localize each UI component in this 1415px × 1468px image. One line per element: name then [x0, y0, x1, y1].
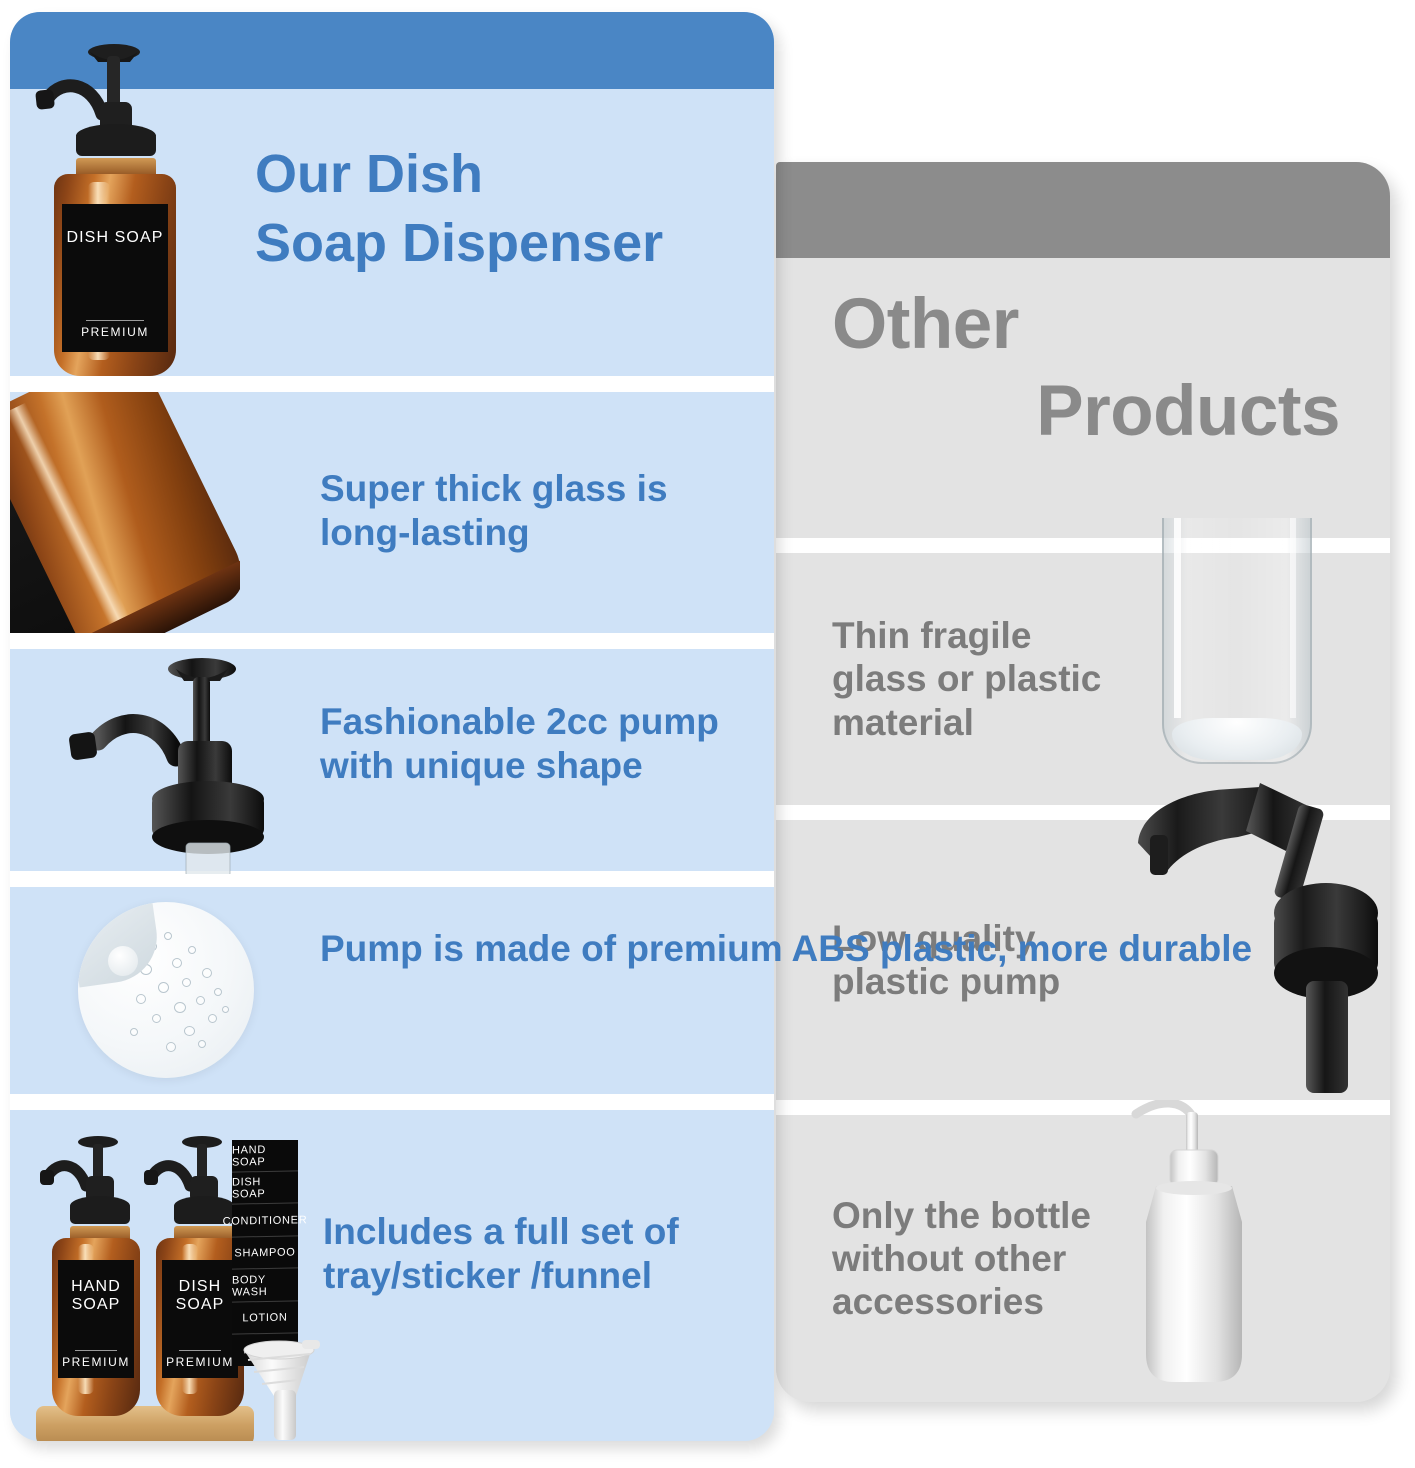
left-row-divider-2: [10, 633, 774, 649]
our-product-panel: HAND SOAP PREMIUM: [10, 12, 774, 1441]
our-product-title-line-2: Soap Dispenser: [255, 209, 775, 278]
bottle-label-bottom: PREMIUM: [166, 1355, 234, 1369]
hero-bottle-label-bottom: PREMIUM: [81, 325, 149, 339]
hero-dish-soap-bottle: DISH SOAP PREMIUM: [32, 40, 192, 376]
sticker-label: HAND SOAP: [232, 1139, 298, 1173]
bottle-label-hand-soap: HAND SOAP PREMIUM: [58, 1260, 134, 1378]
other-products-header-bar: [776, 162, 1390, 258]
left-row-divider-4: [10, 1094, 774, 1110]
drawback-label-thin-glass: Thin fragile glass or plastic material: [776, 614, 1136, 744]
bottle-hand-soap: HAND SOAP PREMIUM: [40, 1134, 140, 1416]
clear-glass-jar-icon: [1162, 518, 1312, 768]
bottle-label-bottom: PREMIUM: [62, 1355, 130, 1369]
sticker-label: BODY WASH: [232, 1269, 298, 1303]
bottle-label-dish-soap: DISH SOAP PREMIUM: [162, 1260, 238, 1378]
infographic-canvas: Other Products Thin fragile glass or pla…: [0, 0, 1415, 1468]
sticker-label: LOTION: [232, 1302, 298, 1336]
hero-bottle-label: DISH SOAP PREMIUM: [62, 204, 168, 352]
abs-plastic-pellets-image: [78, 902, 254, 1078]
sticker-sheet: HAND SOAP DISH SOAP CONDITIONER SHAMPOO …: [232, 1140, 298, 1366]
funnel-icon: [240, 1340, 326, 1441]
sticker-label: DISH SOAP: [232, 1172, 298, 1206]
amber-bottle-closeup-image: [10, 392, 240, 633]
feature-label-full-set: Includes a full set of tray/sticker /fun…: [323, 1210, 753, 1297]
bottle-dish-soap: DISH SOAP PREMIUM: [144, 1134, 244, 1416]
drawback-row-bottle-only: Only the bottle without other accessorie…: [776, 1115, 1390, 1402]
full-set-image: HAND SOAP PREMIUM: [22, 1110, 322, 1441]
our-product-title: Our Dish Soap Dispenser: [255, 140, 775, 278]
hero-bottle-label-top: DISH SOAP: [66, 229, 163, 247]
other-products-panel: Other Products Thin fragile glass or pla…: [776, 162, 1390, 1402]
other-products-title: Other Products: [776, 258, 1390, 538]
bottle-label-top: HAND SOAP: [58, 1278, 134, 1314]
white-plastic-dispenser-icon: [1130, 1100, 1290, 1400]
feature-label-thick-glass: Super thick glass is long-lasting: [320, 467, 740, 554]
left-row-divider-1: [10, 376, 774, 392]
feature-label-pump-2cc: Fashionable 2cc pump with unique shape: [320, 700, 720, 787]
drawback-label-bottle-only: Only the bottle without other accessorie…: [776, 1194, 1136, 1324]
other-products-title-line-1: Other: [832, 282, 1356, 369]
black-pump-closeup-image: [50, 649, 320, 874]
right-row-divider-3: [776, 1100, 1390, 1115]
other-products-title-line-2: Products: [832, 369, 1356, 456]
feature-label-abs-plastic: Pump is made of premium ABS plastic, mor…: [320, 927, 840, 971]
our-product-title-line-1: Our Dish: [255, 140, 775, 209]
sticker-label: SHAMPOO: [232, 1237, 298, 1271]
sticker-label: CONDITIONER: [232, 1204, 298, 1238]
bottle-label-top: DISH SOAP: [162, 1278, 238, 1314]
